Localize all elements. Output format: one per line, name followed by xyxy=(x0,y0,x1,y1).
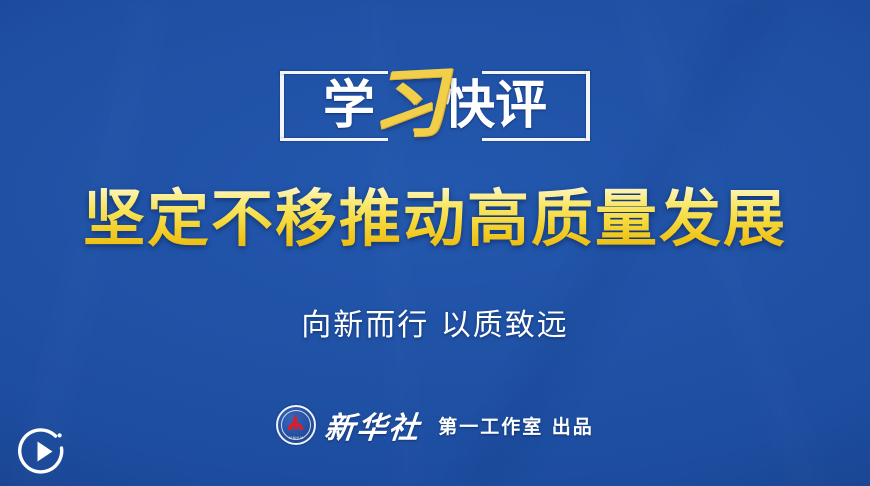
xinhua-emblem-icon: XINHUA xyxy=(276,405,316,445)
producer-credit: XINHUA 新华社 第一工作室 出品 xyxy=(0,403,870,447)
program-logo: 学 习 快 评 xyxy=(0,52,870,160)
subtitle-text: 向新而行 以质致远 xyxy=(0,300,870,344)
studio-credit: 第一工作室 出品 xyxy=(438,412,594,439)
play-button[interactable] xyxy=(14,423,71,480)
logo-characters: 学 习 快 评 xyxy=(323,68,547,144)
headline-title: 坚定不移推动高质量发展 xyxy=(0,186,870,253)
logo-char-3: 快 xyxy=(443,80,495,132)
video-poster-frame: 学 习 快 评 坚定不移推动高质量发展 向新而行 以质致远 xyxy=(0,0,870,486)
logo-char-2: 习 xyxy=(369,64,449,144)
logo-char-1: 学 xyxy=(323,80,375,132)
logo-char-4: 评 xyxy=(495,80,547,132)
agency-name: 新华社 xyxy=(323,403,424,447)
emblem-wordmark: XINHUA xyxy=(278,436,314,440)
play-icon[interactable] xyxy=(14,423,71,480)
pagoda-tower-icon xyxy=(285,413,307,435)
logo-frame: 学 习 快 评 xyxy=(280,71,590,141)
